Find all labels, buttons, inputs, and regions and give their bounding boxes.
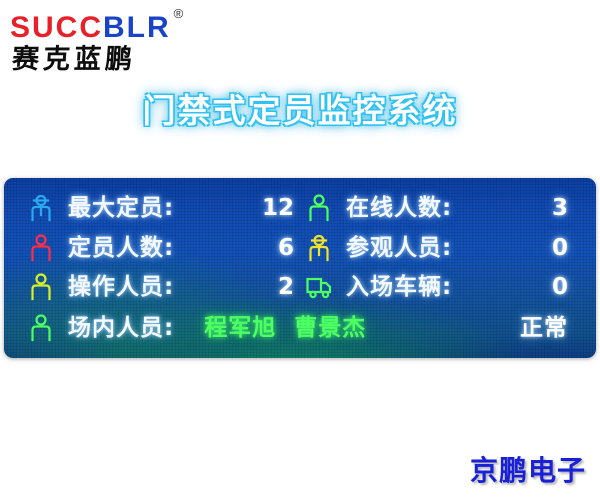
led-value: 0	[452, 274, 582, 300]
page-title: 门禁式定员监控系统	[0, 88, 600, 134]
led-label: 入场车辆:	[346, 274, 452, 300]
led-cell-vehicle-count: 入场车辆: 0	[304, 268, 582, 306]
led-row: 定员人数: 6	[26, 229, 582, 267]
led-value: 0	[452, 235, 582, 261]
person-hardhat-icon	[26, 192, 56, 224]
truck-icon	[304, 271, 334, 303]
led-label: 定员人数:	[68, 235, 174, 261]
led-row: 操作人员: 2	[26, 268, 582, 306]
person-icon	[26, 271, 56, 303]
led-rows-grid: 最大定员: 12 在线人数:	[26, 189, 582, 348]
person-icon	[304, 192, 334, 224]
led-cell-max-capacity: 最大定员: 12	[26, 189, 304, 227]
led-row: 最大定员: 12 在线人数:	[26, 189, 582, 227]
led-label: 操作人员:	[68, 274, 174, 300]
screenshot-root: SUCCBLR® 赛克蓝鹏 门禁式定员监控系统	[0, 0, 600, 500]
led-cell-visitor-count: 参观人员: 0	[304, 229, 582, 267]
led-value: 3	[452, 195, 582, 221]
registered-trademark-icon: ®	[174, 6, 186, 21]
logo-chinese-name: 赛克蓝鹏	[7, 45, 269, 75]
led-label: 最大定员:	[68, 195, 174, 221]
footer-brand: 京鹏电子	[470, 454, 586, 488]
led-value: 2	[174, 274, 304, 300]
status-badge: 正常	[520, 315, 582, 341]
logo-wordmark-blue: BLR	[103, 11, 171, 44]
led-label: 在线人数:	[346, 195, 452, 221]
led-panel-content: 最大定员: 12 在线人数:	[4, 178, 596, 358]
list-item: 曹景杰	[294, 315, 366, 341]
list-item: 程军旭	[204, 315, 276, 341]
led-value: 6	[174, 235, 304, 261]
led-cell-online-count: 在线人数: 3	[304, 189, 582, 227]
logo-wordmark-red: SUCC	[10, 11, 103, 44]
led-cell-assigned-count: 定员人数: 6	[26, 229, 304, 267]
led-row: 场内人员: 程军旭曹景杰 正常	[26, 308, 582, 348]
led-value: 12	[174, 195, 304, 221]
led-cell-onsite-personnel: 场内人员:	[26, 312, 174, 344]
person-icon	[26, 232, 56, 264]
led-cell-operator-count: 操作人员: 2	[26, 268, 304, 306]
company-logo: SUCCBLR® 赛克蓝鹏	[8, 6, 268, 72]
led-display-panel: 最大定员: 12 在线人数:	[4, 178, 596, 358]
led-label: 场内人员:	[68, 315, 174, 341]
person-hardhat-icon	[304, 232, 334, 264]
led-label: 参观人员:	[346, 235, 452, 261]
onsite-names-list: 程军旭曹景杰	[204, 315, 520, 341]
logo-wordmark: SUCCBLR®	[8, 6, 268, 44]
person-icon	[26, 312, 56, 344]
